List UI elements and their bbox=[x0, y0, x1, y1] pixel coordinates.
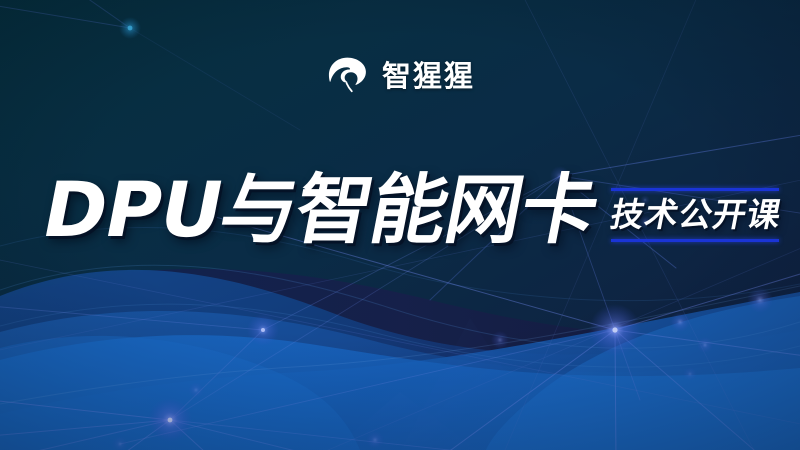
headline-block: DPU与智能网卡 技术公开课 bbox=[44, 172, 781, 248]
subtitle-rule-top bbox=[611, 188, 779, 191]
page-subtitle: 技术公开课 bbox=[607, 198, 784, 233]
subtitle-rule-bottom bbox=[611, 239, 779, 242]
brand-name: 智猩猩 bbox=[382, 62, 475, 91]
brand-logo: 智猩猩 bbox=[0, 54, 800, 98]
page-title: DPU与智能网卡 bbox=[37, 172, 604, 248]
poster-canvas: 智猩猩 DPU与智能网卡 技术公开课 bbox=[0, 0, 800, 450]
subtitle-block: 技术公开课 bbox=[611, 188, 781, 242]
gorilla-logo-icon bbox=[325, 54, 369, 98]
fan-rays bbox=[330, 318, 560, 450]
